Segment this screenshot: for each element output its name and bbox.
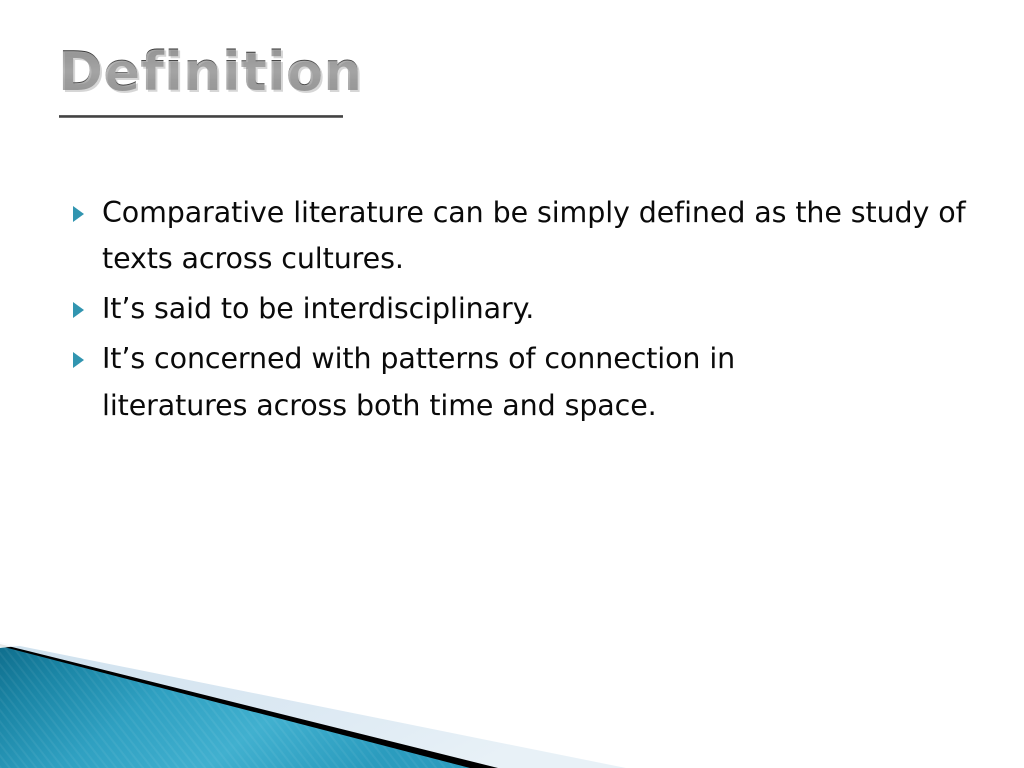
teal-wedge-texture — [0, 646, 470, 768]
triangle-bullet-icon — [73, 206, 84, 222]
teal-wedge — [0, 646, 470, 768]
title-block: Definition Definition — [58, 44, 938, 130]
slide-canvas: Definition Definition Comparative litera… — [0, 0, 1024, 768]
black-wedge — [0, 644, 498, 768]
list-item: Comparative literature can be simply def… — [66, 190, 986, 282]
list-item-text: It’s said to be interdisciplinary. — [102, 286, 982, 332]
list-item: It’s concerned with patterns of connecti… — [66, 336, 986, 428]
title-inner: Definition Definition — [58, 44, 362, 101]
list-item: It’s said to be interdisciplinary. — [66, 286, 986, 332]
corner-decoration — [0, 598, 1024, 768]
page-title-shadow: Definition — [60, 46, 364, 103]
pale-blue-wedge — [0, 642, 626, 768]
list-item-text: Comparative literature can be simply def… — [102, 190, 982, 282]
triangle-bullet-icon — [73, 302, 84, 318]
triangle-bullet-icon — [73, 352, 84, 368]
apex-highlight — [0, 642, 36, 648]
bullet-list: Comparative literature can be simply def… — [66, 190, 986, 429]
title-underline-rule — [59, 115, 343, 118]
list-item-text: It’s concerned with patterns of connecti… — [102, 336, 862, 428]
corner-wedges-graphic — [0, 598, 1024, 768]
